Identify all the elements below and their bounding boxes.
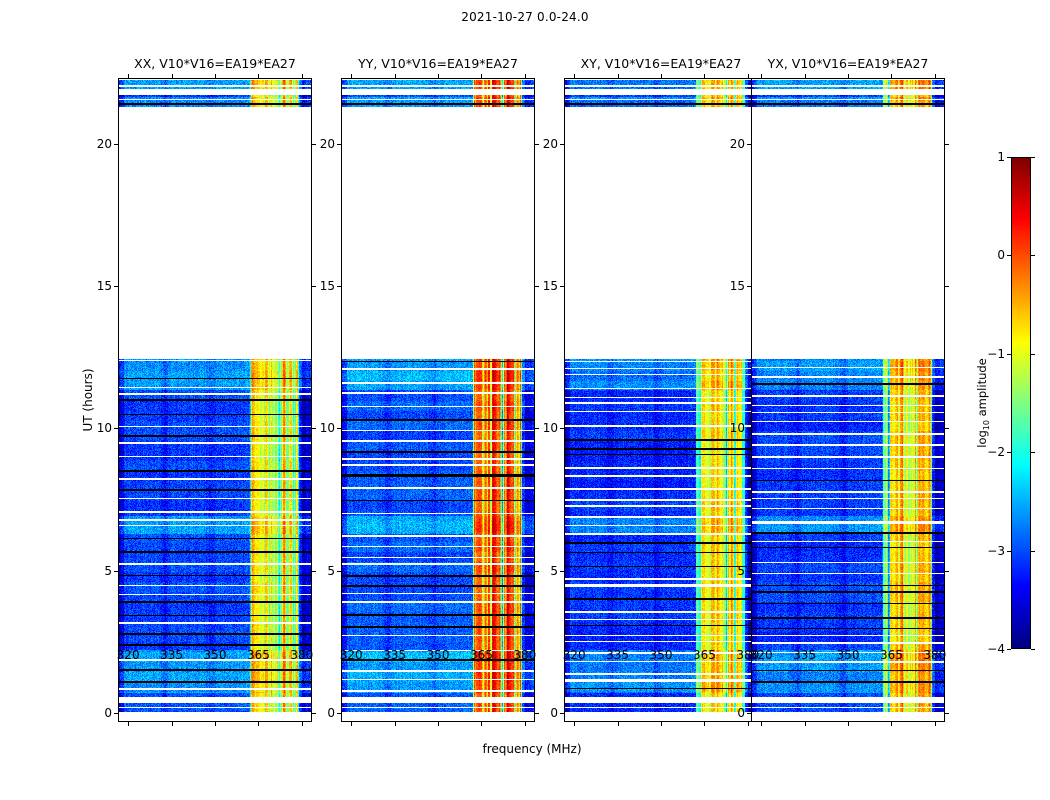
panel-title: YY, V10*V16=EA19*EA27 (358, 56, 518, 71)
y-tick-label: 15 (543, 279, 558, 293)
waterfall-axes[interactable] (751, 78, 945, 722)
x-tick-label: 350 (837, 648, 860, 662)
y-tick-mark (114, 286, 118, 287)
x-tick-mark (172, 722, 173, 726)
x-tick-mark-top (438, 74, 439, 78)
y-tick-mark (747, 286, 751, 287)
x-tick-label: 365 (470, 648, 493, 662)
y-tick-label: 10 (543, 421, 558, 435)
waterfall-axes[interactable] (564, 78, 758, 722)
x-tick-label: 335 (160, 648, 183, 662)
colorbar-label-base: log (975, 430, 989, 448)
colorbar-tick-label: 0 (997, 248, 1005, 262)
y-tick-label: 0 (737, 706, 745, 720)
x-tick-mark (481, 722, 482, 726)
colorbar-label: log10 amplitude (975, 358, 991, 448)
x-tick-mark-top (891, 74, 892, 78)
figure-canvas: 2021-10-27 0.0-24.0 XX, V10*V16=EA19*EA2… (0, 0, 1050, 800)
y-tick-mark (747, 144, 751, 145)
y-tick-label: 20 (543, 137, 558, 151)
x-tick-mark (215, 722, 216, 726)
y-tick-mark (114, 571, 118, 572)
y-tick-mark-right (312, 428, 316, 429)
y-tick-mark (337, 428, 341, 429)
colorbar-tick-mark-right (1031, 157, 1035, 158)
y-tick-label: 5 (737, 564, 745, 578)
x-tick-mark (891, 722, 892, 726)
x-tick-mark (395, 722, 396, 726)
y-tick-mark (560, 286, 564, 287)
colorbar-tick-mark (1007, 551, 1011, 552)
colorbar-gradient (1011, 157, 1031, 649)
y-tick-label: 15 (730, 279, 745, 293)
x-tick-mark-top (395, 74, 396, 78)
x-tick-mark-top (351, 74, 352, 78)
colorbar-tick-mark (1007, 452, 1011, 453)
y-tick-mark-right (945, 428, 949, 429)
y-axis-label: UT (hours) (81, 368, 95, 431)
x-tick-mark (935, 722, 936, 726)
x-tick-label: 335 (793, 648, 816, 662)
colorbar[interactable]: −4−3−2−101 (1011, 157, 1031, 649)
x-tick-mark (748, 722, 749, 726)
panel-xx[interactable]: XX, V10*V16=EA19*EA2705101520 (118, 78, 312, 722)
x-tick-label: 380 (290, 648, 313, 662)
y-tick-mark (114, 428, 118, 429)
x-tick-label: 335 (606, 648, 629, 662)
y-tick-mark-right (312, 571, 316, 572)
x-tick-mark-top (805, 74, 806, 78)
colorbar-label-tail: amplitude (975, 358, 989, 420)
waterfall-image (342, 79, 534, 721)
y-tick-mark (560, 713, 564, 714)
panel-title: XY, V10*V16=EA19*EA27 (581, 56, 742, 71)
y-tick-mark (337, 286, 341, 287)
panel-title: YX, V10*V16=EA19*EA27 (768, 56, 929, 71)
panel-xy[interactable]: XY, V10*V16=EA19*EA2705101520 (564, 78, 758, 722)
y-tick-label: 0 (104, 706, 112, 720)
x-tick-mark-top (258, 74, 259, 78)
waterfall-axes[interactable] (341, 78, 535, 722)
colorbar-tick-label: −4 (987, 642, 1005, 656)
y-tick-mark (337, 144, 341, 145)
y-tick-mark (560, 428, 564, 429)
colorbar-tick-mark-right (1031, 452, 1035, 453)
x-tick-mark-top (704, 74, 705, 78)
x-tick-mark-top (172, 74, 173, 78)
y-tick-mark (337, 713, 341, 714)
x-tick-label: 320 (117, 648, 140, 662)
waterfall-image (565, 79, 757, 721)
x-axis-label: frequency (MHz) (482, 742, 581, 756)
x-tick-mark (351, 722, 352, 726)
y-tick-mark (560, 571, 564, 572)
figure-suptitle: 2021-10-27 0.0-24.0 (0, 10, 1050, 24)
y-tick-mark (747, 713, 751, 714)
x-tick-mark-top (935, 74, 936, 78)
y-tick-label: 10 (320, 421, 335, 435)
y-tick-label: 5 (327, 564, 335, 578)
y-tick-mark-right (312, 286, 316, 287)
x-tick-label: 335 (383, 648, 406, 662)
x-tick-mark (302, 722, 303, 726)
y-tick-label: 5 (104, 564, 112, 578)
colorbar-tick-mark-right (1031, 649, 1035, 650)
x-tick-label: 350 (204, 648, 227, 662)
y-tick-mark (747, 428, 751, 429)
x-tick-mark-top (525, 74, 526, 78)
x-tick-mark-top (215, 74, 216, 78)
x-tick-mark (661, 722, 662, 726)
y-tick-mark (747, 571, 751, 572)
panel-yy[interactable]: YY, V10*V16=EA19*EA2705101520 (341, 78, 535, 722)
waterfall-axes[interactable] (118, 78, 312, 722)
panel-title: XX, V10*V16=EA19*EA27 (134, 56, 296, 71)
x-tick-label: 380 (923, 648, 946, 662)
x-tick-mark (525, 722, 526, 726)
colorbar-tick-mark (1007, 649, 1011, 650)
y-tick-mark-right (312, 713, 316, 714)
colorbar-tick-mark-right (1031, 354, 1035, 355)
y-tick-label: 15 (97, 279, 112, 293)
y-tick-mark (114, 713, 118, 714)
y-tick-label: 20 (97, 137, 112, 151)
y-tick-label: 20 (730, 137, 745, 151)
colorbar-tick-mark (1007, 157, 1011, 158)
waterfall-image (119, 79, 311, 721)
colorbar-tick-mark (1007, 255, 1011, 256)
colorbar-tick-label: −3 (987, 544, 1005, 558)
y-tick-label: 10 (97, 421, 112, 435)
y-tick-mark (560, 144, 564, 145)
x-tick-label: 350 (427, 648, 450, 662)
y-tick-mark-right (535, 571, 539, 572)
colorbar-label-subscript: 10 (982, 420, 991, 430)
x-tick-label: 380 (513, 648, 536, 662)
x-tick-label: 320 (750, 648, 773, 662)
x-tick-mark (574, 722, 575, 726)
x-tick-label: 320 (563, 648, 586, 662)
x-tick-mark-top (128, 74, 129, 78)
x-tick-mark-top (302, 74, 303, 78)
x-tick-mark (258, 722, 259, 726)
colorbar-tick-mark (1007, 354, 1011, 355)
y-tick-mark-right (535, 144, 539, 145)
y-tick-label: 0 (327, 706, 335, 720)
x-tick-mark-top (481, 74, 482, 78)
x-tick-mark (848, 722, 849, 726)
panel-yx[interactable]: YX, V10*V16=EA19*EA2705101520 (751, 78, 945, 722)
y-tick-mark (337, 571, 341, 572)
x-tick-mark (438, 722, 439, 726)
y-tick-mark-right (945, 286, 949, 287)
x-tick-mark-top (761, 74, 762, 78)
y-tick-label: 20 (320, 137, 335, 151)
y-tick-mark-right (945, 713, 949, 714)
x-tick-label: 365 (880, 648, 903, 662)
y-tick-mark-right (945, 144, 949, 145)
y-tick-label: 10 (730, 421, 745, 435)
x-tick-mark (704, 722, 705, 726)
y-tick-label: 15 (320, 279, 335, 293)
x-tick-label: 320 (340, 648, 363, 662)
colorbar-tick-mark-right (1031, 255, 1035, 256)
x-tick-mark-top (848, 74, 849, 78)
waterfall-image (752, 79, 944, 721)
colorbar-tick-label: 1 (997, 150, 1005, 164)
x-tick-mark (618, 722, 619, 726)
y-tick-mark-right (535, 286, 539, 287)
y-tick-label: 0 (550, 706, 558, 720)
x-tick-mark-top (618, 74, 619, 78)
x-tick-label: 365 (247, 648, 270, 662)
x-tick-mark (128, 722, 129, 726)
x-tick-label: 350 (650, 648, 673, 662)
y-tick-mark (114, 144, 118, 145)
x-tick-mark-top (574, 74, 575, 78)
y-tick-label: 5 (550, 564, 558, 578)
x-tick-mark-top (661, 74, 662, 78)
x-tick-mark-top (748, 74, 749, 78)
y-tick-mark-right (312, 144, 316, 145)
x-tick-mark (761, 722, 762, 726)
colorbar-tick-mark-right (1031, 551, 1035, 552)
x-tick-label: 365 (693, 648, 716, 662)
y-tick-mark-right (535, 713, 539, 714)
y-tick-mark-right (945, 571, 949, 572)
x-tick-mark (805, 722, 806, 726)
y-tick-mark-right (535, 428, 539, 429)
